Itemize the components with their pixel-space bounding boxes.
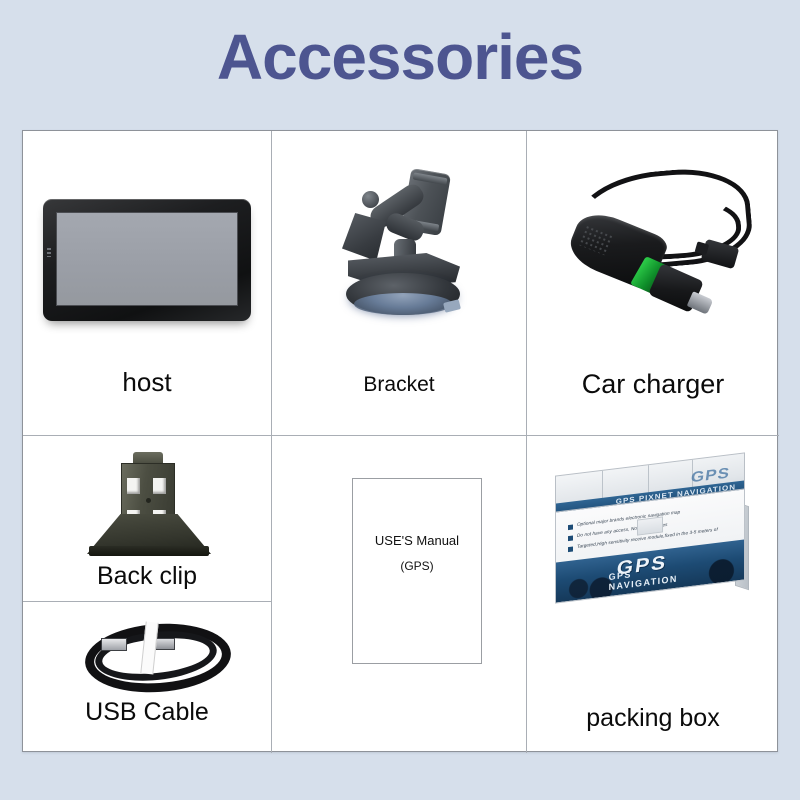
accessory-cell-bracket: Bracket (272, 131, 526, 435)
manual-cover-subtitle: (GPS) (353, 559, 481, 573)
back-clip-screw-hole (146, 498, 151, 503)
bullet-square-icon (568, 535, 573, 541)
accessory-label-host: host (23, 367, 271, 398)
usb-connector-b (155, 638, 175, 650)
accessory-label-car-charger: Car charger (527, 369, 779, 400)
accessories-page: Accessories host (0, 0, 800, 800)
users-manual-image: USE'S Manual (GPS) (352, 478, 482, 664)
suction-mount-image (320, 169, 480, 339)
page-title: Accessories (0, 24, 800, 91)
accessory-cell-back-clip: Back clip (23, 436, 271, 601)
suction-cup-tab (443, 299, 461, 313)
accessory-cell-host: host (23, 131, 271, 435)
box-lid-flap (637, 516, 663, 535)
back-clip-slot (127, 478, 140, 494)
accessory-label-bracket: Bracket (272, 373, 526, 397)
bullet-square-icon (568, 546, 573, 552)
gps-device-screen (56, 212, 238, 306)
mount-adjust-knob (362, 191, 379, 208)
packing-box-image: GPS GPS PIXNET NAVIGATION Optional major… (549, 464, 751, 598)
accessory-cell-packing-box: GPS GPS PIXNET NAVIGATION Optional major… (527, 436, 779, 753)
charger-contact-tip (687, 291, 714, 315)
mount-neck (342, 213, 386, 261)
accessory-label-back-clip: Back clip (23, 562, 271, 591)
accessory-cell-usb-cable: USB Cable (23, 602, 271, 753)
back-clip-image (87, 452, 211, 558)
back-clip-slot (153, 478, 166, 494)
suction-cup (354, 293, 452, 315)
manual-cover-title: USE'S Manual (353, 533, 481, 548)
back-clip-foot (89, 546, 209, 556)
gps-device-image (43, 199, 251, 321)
accessory-cell-car-charger: Car charger (527, 131, 779, 435)
gps-device-indicator-lights (47, 248, 51, 257)
accessories-grid: host Bracket (22, 130, 778, 752)
usb-connector-a (101, 638, 127, 651)
accessory-label-usb-cable: USB Cable (23, 698, 271, 727)
car-charger-image (553, 167, 753, 357)
bullet-square-icon (568, 524, 573, 530)
accessory-cell-manual: USE'S Manual (GPS) (272, 436, 526, 753)
usb-cable-image (85, 622, 217, 678)
accessory-label-packing-box: packing box (527, 704, 779, 733)
